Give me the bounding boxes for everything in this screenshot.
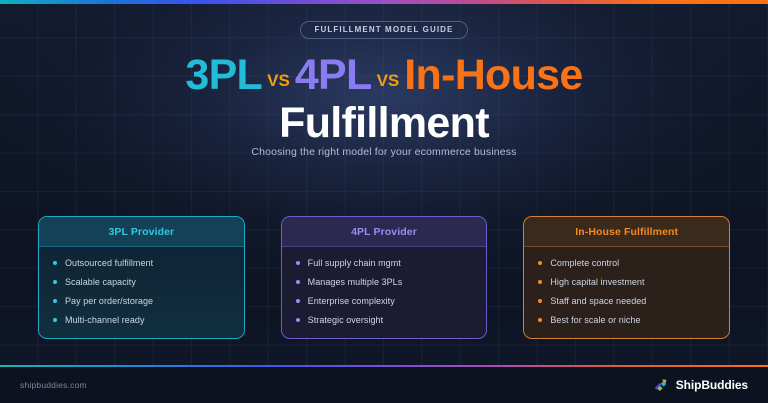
list-item: Outsourced fulfillment xyxy=(53,258,230,268)
brand-lockup: ShipBuddies xyxy=(652,377,748,394)
infographic-poster: FULFILLMENT MODEL GUIDE 3PLVS4PLVSIn-Hou… xyxy=(0,0,768,403)
bullet-dot-icon xyxy=(538,318,542,322)
bullet-dot-icon xyxy=(296,318,300,322)
footer: shipbuddies.com ShipBuddies xyxy=(0,367,768,403)
list-item-label: Manages multiple 3PLs xyxy=(308,277,403,287)
page-title: 3PLVS4PLVSIn-House Fulfillment xyxy=(0,53,768,147)
list-item: Full supply chain mgmt xyxy=(296,258,473,268)
list-item-label: Scalable capacity xyxy=(65,277,136,287)
list-item: Multi-channel ready xyxy=(53,315,230,325)
card-4pl-body: Full supply chain mgmt Manages multiple … xyxy=(282,247,487,338)
list-item-label: Strategic oversight xyxy=(308,315,384,325)
list-item: Staff and space needed xyxy=(538,296,715,306)
list-item: Pay per order/storage xyxy=(53,296,230,306)
bullet-dot-icon xyxy=(538,299,542,303)
page-subtitle: Choosing the right model for your ecomme… xyxy=(0,146,768,158)
list-item-label: Pay per order/storage xyxy=(65,296,153,306)
card-3pl-provider: 3PL Provider Outsourced fulfillment Scal… xyxy=(38,216,245,339)
list-item: Scalable capacity xyxy=(53,277,230,287)
list-item-label: Multi-channel ready xyxy=(65,315,145,325)
card-in-house-title: In-House Fulfillment xyxy=(524,217,729,247)
list-item-label: Complete control xyxy=(550,258,619,268)
bullet-dot-icon xyxy=(538,261,542,265)
bullet-dot-icon xyxy=(538,280,542,284)
list-item: High capital investment xyxy=(538,277,715,287)
list-item: Strategic oversight xyxy=(296,315,473,325)
title-4pl: 4PL xyxy=(295,51,372,99)
card-3pl-title: 3PL Provider xyxy=(39,217,244,247)
title-vs-2: VS xyxy=(372,71,405,90)
title-3pl: 3PL xyxy=(185,51,262,99)
bullet-dot-icon xyxy=(53,299,57,303)
badge-container: FULFILLMENT MODEL GUIDE xyxy=(0,21,768,39)
list-item-label: Best for scale or niche xyxy=(550,315,640,325)
card-in-house-fulfillment: In-House Fulfillment Complete control Hi… xyxy=(523,216,730,339)
list-item: Best for scale or niche xyxy=(538,315,715,325)
footer-website-url: shipbuddies.com xyxy=(20,380,87,390)
list-item: Manages multiple 3PLs xyxy=(296,277,473,287)
list-item-label: Full supply chain mgmt xyxy=(308,258,401,268)
title-inhouse: In-House xyxy=(404,51,582,99)
title-line-1: 3PLVS4PLVSIn-House xyxy=(0,53,768,98)
shipbuddies-logo-icon xyxy=(652,377,669,394)
bullet-dot-icon xyxy=(296,261,300,265)
guide-badge: FULFILLMENT MODEL GUIDE xyxy=(300,21,469,39)
list-item-label: Staff and space needed xyxy=(550,296,646,306)
card-4pl-title: 4PL Provider xyxy=(282,217,487,247)
list-item-label: Enterprise complexity xyxy=(308,296,395,306)
card-in-house-body: Complete control High capital investment… xyxy=(524,247,729,338)
list-item-label: High capital investment xyxy=(550,277,644,287)
bullet-dot-icon xyxy=(53,280,57,284)
title-vs-1: VS xyxy=(262,71,295,90)
top-gradient-bar xyxy=(0,0,768,4)
comparison-cards: 3PL Provider Outsourced fulfillment Scal… xyxy=(38,216,730,339)
bullet-dot-icon xyxy=(53,318,57,322)
bullet-dot-icon xyxy=(296,299,300,303)
list-item-label: Outsourced fulfillment xyxy=(65,258,153,268)
brand-name: ShipBuddies xyxy=(676,378,748,392)
card-4pl-provider: 4PL Provider Full supply chain mgmt Mana… xyxy=(281,216,488,339)
list-item: Enterprise complexity xyxy=(296,296,473,306)
bullet-dot-icon xyxy=(296,280,300,284)
card-3pl-body: Outsourced fulfillment Scalable capacity… xyxy=(39,247,244,338)
title-line-2: Fulfillment xyxy=(0,99,768,147)
bullet-dot-icon xyxy=(53,261,57,265)
list-item: Complete control xyxy=(538,258,715,268)
